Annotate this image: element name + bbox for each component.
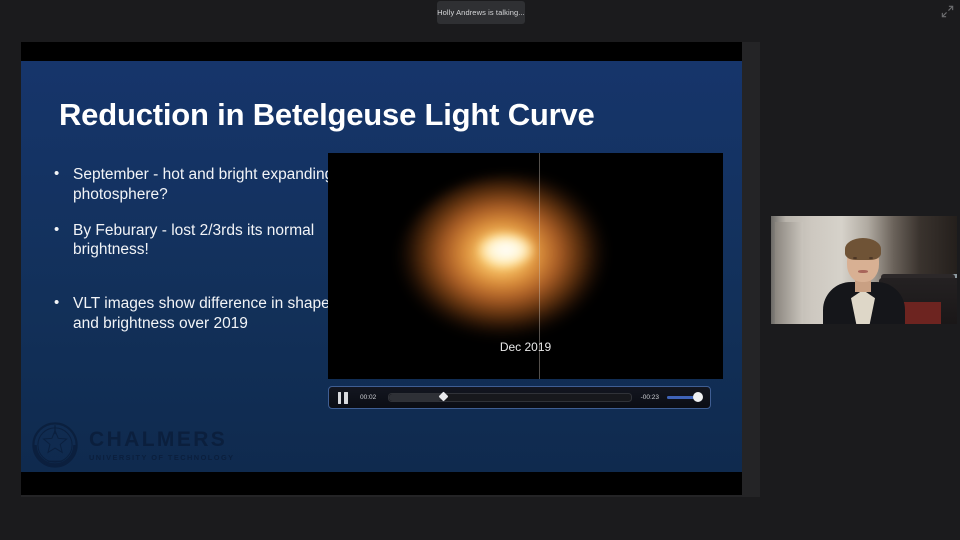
background-door [775, 222, 803, 324]
chalmers-crest-icon [28, 418, 82, 472]
background-red-object [899, 302, 941, 324]
participant-eye-right [869, 257, 873, 259]
volume-fill [667, 396, 694, 399]
chalmers-logo-name: CHALMERS [89, 429, 235, 450]
bullet-item: By Feburary - lost 2/3rds its normal bri… [51, 221, 336, 261]
chalmers-logo: CHALMERS UNIVERSITY OF TECHNOLOGY [28, 416, 238, 472]
elapsed-time-label: 00:02 [360, 394, 376, 401]
active-speaker-banner: Holly Andrews is talking... [437, 1, 525, 24]
video-date-caption: Dec 2019 [328, 340, 723, 354]
volume-slider[interactable] [667, 396, 701, 399]
chalmers-logo-subtitle: UNIVERSITY OF TECHNOLOGY [89, 454, 235, 461]
embedded-video-player: Dec 2019 00:02 -00:23 [328, 153, 723, 409]
video-progress-slider[interactable] [388, 393, 631, 402]
participant-hair [845, 238, 881, 260]
top-bar: Holly Andrews is talking... [0, 0, 960, 25]
remaining-time-label: -00:23 [641, 394, 659, 401]
expand-fullscreen-icon[interactable] [940, 4, 955, 19]
participant-eye-left [853, 257, 857, 259]
slide-title: Reduction in Betelgeuse Light Curve [59, 97, 595, 133]
meeting-screen-share-view: Holly Andrews is talking... Reduction in… [0, 0, 960, 540]
betelgeuse-star-image [396, 175, 626, 361]
participant-video-tile[interactable] [771, 216, 957, 324]
video-viewport[interactable]: Dec 2019 [328, 153, 723, 379]
pause-icon[interactable] [335, 391, 350, 404]
bullet-item: VLT images show difference in shape and … [51, 294, 336, 334]
pause-bar-left [338, 392, 342, 404]
volume-slider-handle[interactable] [693, 392, 703, 402]
chalmers-logo-text: CHALMERS UNIVERSITY OF TECHNOLOGY [89, 429, 235, 461]
slide-bullet-list: September - hot and bright expanding pho… [51, 165, 336, 350]
active-speaker-label: Holly Andrews is talking... [437, 8, 525, 17]
bullet-item: September - hot and bright expanding pho… [51, 165, 336, 205]
participant-mouth [858, 270, 868, 273]
progress-fill [389, 394, 442, 401]
pause-bar-right [344, 392, 348, 404]
star-core-highlight [478, 233, 534, 267]
video-control-bar: 00:02 -00:23 [328, 386, 711, 409]
presentation-slide: Reduction in Betelgeuse Light Curve Sept… [21, 61, 742, 472]
